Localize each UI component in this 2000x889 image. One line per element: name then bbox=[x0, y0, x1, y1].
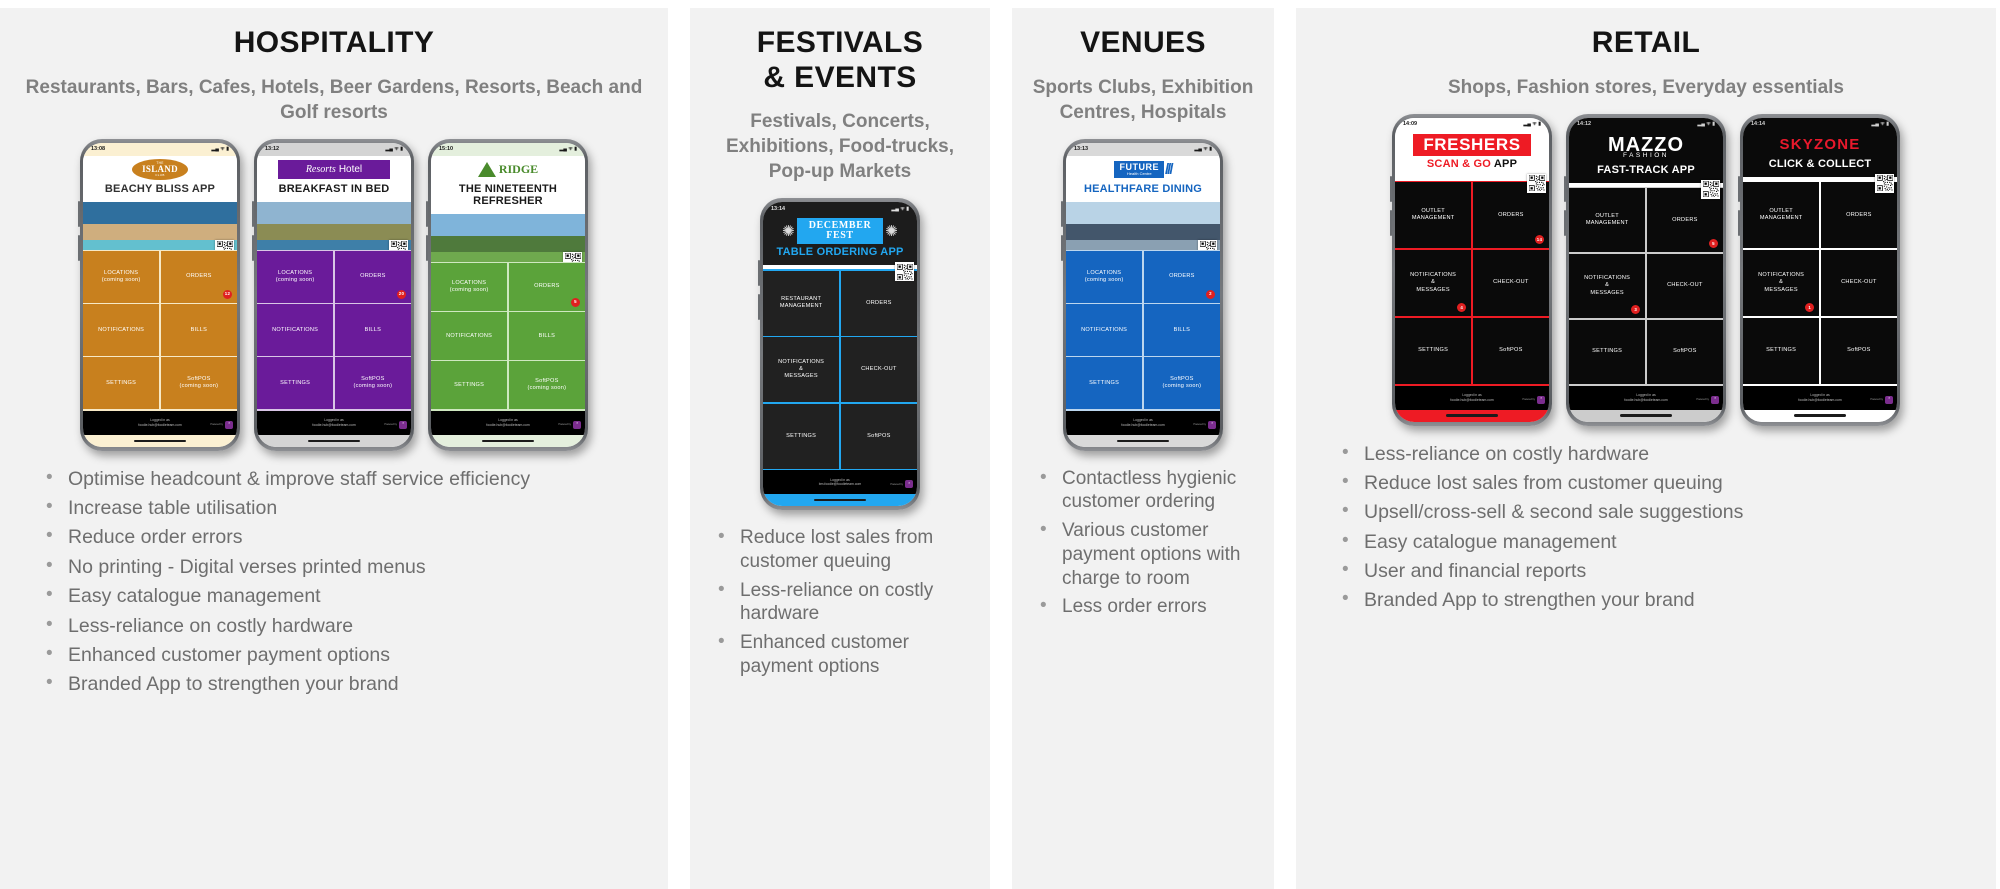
phones-row-hospitality: 13:08▂▄ ᯤ ▮THEISLANDCLUBBEACHY BLISS APP… bbox=[80, 139, 588, 451]
qr-code-icon[interactable] bbox=[1875, 174, 1894, 193]
phone-footer: Logged in asbm.foodie@foodieteam.comPowe… bbox=[763, 470, 917, 494]
phone-screen-freshers: 14:09▂▄ ᯤ ▮FRESHERSSCAN & GO APPOUTLETMA… bbox=[1395, 118, 1549, 422]
hero-land bbox=[1066, 224, 1220, 241]
benefit-item: Less-reliance on costly hardware bbox=[714, 579, 976, 627]
tile-bills[interactable]: BILLS bbox=[161, 304, 237, 356]
status-time: 14:14 bbox=[1751, 121, 1765, 127]
status-bar: 14:12▂▄ ᯤ ▮ bbox=[1569, 118, 1723, 131]
tile-settings[interactable]: SETTINGS bbox=[1066, 357, 1142, 409]
tile-label: SoftPOS bbox=[867, 433, 891, 440]
tile-orders[interactable]: ORDERS2 bbox=[1144, 251, 1220, 303]
phones-row-retail: 14:09▂▄ ᯤ ▮FRESHERSSCAN & GO APPOUTLETMA… bbox=[1392, 114, 1900, 426]
brand-bar: THEISLANDCLUBBEACHY BLISS APP bbox=[83, 156, 237, 202]
column-subtitle-hospitality: Restaurants, Bars, Cafes, Hotels, Beer G… bbox=[21, 75, 647, 125]
tile-label: NOTIFICATIONS&MESSAGES bbox=[778, 359, 824, 381]
column-hospitality: HOSPITALITYRestaurants, Bars, Cafes, Hot… bbox=[0, 8, 668, 889]
phone-footer: Logged in asfoodie.hub@foodieteam.comPow… bbox=[257, 411, 411, 435]
solution-overview-board: HOSPITALITYRestaurants, Bars, Cafes, Hot… bbox=[0, 0, 2000, 889]
hero-sea bbox=[83, 240, 237, 250]
tile-settings[interactable]: SETTINGS bbox=[257, 357, 333, 409]
status-icons: ▂▄ ᯤ ▮ bbox=[560, 146, 577, 152]
tile-grid: RESTAURANTMANAGEMENTORDERSNOTIFICATIONS&… bbox=[763, 269, 917, 470]
hero-image bbox=[83, 202, 237, 250]
home-indicator[interactable] bbox=[1117, 440, 1169, 442]
tile-label: SETTINGS bbox=[786, 433, 816, 440]
tile-label: BILLS bbox=[365, 327, 382, 334]
tile-settings[interactable]: SETTINGS bbox=[1569, 320, 1645, 384]
benefit-item: Branded App to strengthen your brand bbox=[42, 672, 654, 696]
tile-label: CHECK-OUT bbox=[861, 366, 897, 373]
brand-bar: ResortsHotelBREAKFAST IN BED bbox=[257, 156, 411, 202]
home-indicator[interactable] bbox=[482, 440, 534, 442]
hero-sky bbox=[431, 214, 585, 238]
powered-by: Powered byf bbox=[210, 421, 233, 429]
powered-by: Powered byf bbox=[558, 421, 581, 429]
logged-in-text: Logged in asfoodie.hub@foodieteam.com bbox=[1121, 418, 1164, 427]
app-title: CLICK & COLLECT bbox=[1747, 156, 1893, 173]
firework-icon-right: ✺ bbox=[885, 222, 898, 240]
tile-softpos[interactable]: SoftPOS bbox=[1821, 318, 1897, 384]
column-venues: VENUESSports Clubs, Exhibition Centres, … bbox=[1012, 8, 1274, 889]
app-title: FAST-TRACK APP bbox=[1573, 162, 1719, 179]
brand-logo-ridge-golf-club: RIDGE bbox=[435, 159, 581, 181]
powered-by: Powered byf bbox=[1193, 421, 1216, 429]
hero-image bbox=[257, 202, 411, 250]
tile-label: ORDERS bbox=[534, 283, 559, 290]
tile-label: SoftPOS(coming soon) bbox=[1163, 376, 1202, 391]
tile-bills[interactable]: BILLS bbox=[509, 312, 585, 360]
tile-grid: OUTLETMANAGEMENTORDERS14NOTIFICATIONS&ME… bbox=[1395, 181, 1549, 386]
logged-in-text: Logged in asbm.foodie@foodieteam.com bbox=[819, 478, 861, 487]
home-indicator[interactable] bbox=[308, 440, 360, 442]
status-bar: 13:12▂▄ ᯤ ▮ bbox=[257, 143, 411, 156]
brand-logo-mazzo-fashion: MAZZOFASHION bbox=[1573, 134, 1719, 162]
brand-bar: SKYZONECLICK & COLLECT bbox=[1743, 131, 1897, 177]
tile-grid: OUTLETMANAGEMENTORDERSNOTIFICATIONS&MESS… bbox=[1743, 181, 1897, 386]
brand-logo-december-fest: ✺DECEMBERFEST✺ bbox=[767, 218, 913, 244]
tile-restaurant[interactable]: RESTAURANTMANAGEMENT bbox=[763, 271, 839, 336]
tile-bills[interactable]: BILLS bbox=[335, 304, 411, 356]
phone-screen-ridge-golf-club: 15:10▂▄ ᯤ ▮RIDGETHE NINETEENTH REFRESHER… bbox=[431, 143, 585, 447]
qr-code-icon[interactable] bbox=[1701, 180, 1720, 199]
qr-anchor bbox=[1743, 177, 1897, 181]
tile-softpos[interactable]: SoftPOS(coming soon) bbox=[1144, 357, 1220, 409]
status-icons: ▂▄ ᯤ ▮ bbox=[386, 146, 403, 152]
tile-label: ORDERS bbox=[1498, 212, 1523, 219]
benefit-item: Less order errors bbox=[1036, 595, 1260, 619]
home-indicator-bar bbox=[83, 435, 237, 447]
tile-label: ORDERS bbox=[360, 273, 385, 280]
tile-notifications[interactable]: NOTIFICATIONS bbox=[83, 304, 159, 356]
phone-mockup-december-fest: 13:14▂▄ ᯤ ▮✺DECEMBERFEST✺TABLE ORDERING … bbox=[760, 198, 920, 510]
foodie-logo-icon: f bbox=[1537, 396, 1545, 404]
tile-label: ORDERS bbox=[186, 273, 211, 280]
benefit-item: No printing - Digital verses printed men… bbox=[42, 555, 654, 579]
logo-line-3: CLUB bbox=[155, 174, 165, 177]
phones-row-venues: 13:13▂▄ ᯤ ▮FUTUREHealth Centre///HEALTHF… bbox=[1063, 139, 1223, 451]
tile-label: ORDERS bbox=[1169, 273, 1194, 280]
powered-by-label: Powered by bbox=[890, 483, 903, 486]
column-subtitle-retail: Shops, Fashion stores, Everyday essentia… bbox=[1448, 75, 1844, 100]
home-indicator[interactable] bbox=[1620, 414, 1672, 416]
powered-by-label: Powered by bbox=[1193, 423, 1206, 426]
brand-logo-island-club: THEISLANDCLUB bbox=[87, 159, 233, 181]
tile-locations[interactable]: LOCATIONS(coming soon) bbox=[431, 263, 507, 311]
powered-by-label: Powered by bbox=[1696, 398, 1709, 401]
powered-by-label: Powered by bbox=[1522, 398, 1535, 401]
tile-label: SETTINGS bbox=[1766, 347, 1796, 354]
status-time: 13:08 bbox=[91, 146, 105, 152]
foodie-logo-icon: f bbox=[1885, 396, 1893, 404]
qr-code-icon[interactable] bbox=[895, 262, 914, 281]
tile-outlet[interactable]: OUTLETMANAGEMENT bbox=[1395, 182, 1471, 248]
tile-label: SoftPOS bbox=[1499, 347, 1523, 354]
status-time: 13:14 bbox=[771, 206, 785, 212]
tile-check-out[interactable]: CHECK-OUT bbox=[1821, 250, 1897, 316]
benefit-item: Reduce order errors bbox=[42, 525, 654, 549]
tile-badge: 12 bbox=[223, 290, 232, 299]
tile-check-out[interactable]: CHECK-OUT bbox=[1647, 254, 1723, 318]
status-icons: ▂▄ ᯤ ▮ bbox=[1524, 121, 1541, 127]
foodie-logo-icon: f bbox=[905, 480, 913, 488]
benefit-item: Less-reliance on costly hardware bbox=[42, 614, 654, 638]
tile-bills[interactable]: BILLS bbox=[1144, 304, 1220, 356]
foodie-logo-icon: f bbox=[225, 421, 233, 429]
tile-badge: 20 bbox=[397, 290, 406, 299]
status-time: 14:09 bbox=[1403, 121, 1417, 127]
tile-outlet[interactable]: OUTLETMANAGEMENT bbox=[1743, 182, 1819, 248]
powered-by-label: Powered by bbox=[1870, 398, 1883, 401]
benefit-item: Enhanced customer payment options bbox=[42, 643, 654, 667]
powered-by: Powered byf bbox=[1870, 396, 1893, 404]
powered-by: Powered byf bbox=[384, 421, 407, 429]
column-subtitle-venues: Sports Clubs, Exhibition Centres, Hospit… bbox=[1025, 75, 1261, 125]
tile-label: NOTIFICATIONS&MESSAGES bbox=[1584, 275, 1630, 297]
app-title: TABLE ORDERING APP bbox=[767, 244, 913, 261]
powered-by: Powered byf bbox=[1522, 396, 1545, 404]
tile-check-out[interactable]: CHECK-OUT bbox=[841, 337, 917, 402]
tile-softpos[interactable]: SoftPOS bbox=[841, 404, 917, 469]
qr-code-icon[interactable] bbox=[1198, 240, 1217, 250]
tile-label: SETTINGS bbox=[1418, 347, 1448, 354]
status-icons: ▂▄ ᯤ ▮ bbox=[892, 206, 909, 212]
app-title: HEALTHFARE DINING bbox=[1070, 181, 1216, 198]
phone-mockup-skyzone: 14:14▂▄ ᯤ ▮SKYZONECLICK & COLLECTOUTLETM… bbox=[1740, 114, 1900, 426]
tile-label: SETTINGS bbox=[1089, 380, 1119, 387]
column-subtitle-festivals: Festivals, Concerts, Exhibitions, Food-t… bbox=[704, 109, 977, 184]
phone-mockup-mazzo-fashion: 14:12▂▄ ᯤ ▮MAZZOFASHIONFAST-TRACK APPOUT… bbox=[1566, 114, 1726, 426]
tile-label: SoftPOS bbox=[1847, 347, 1871, 354]
tile-label: RESTAURANTMANAGEMENT bbox=[780, 296, 823, 311]
hero-sky bbox=[1066, 202, 1220, 226]
column-title-venues: VENUES bbox=[1080, 26, 1206, 61]
tile-orders[interactable]: ORDERS12 bbox=[161, 251, 237, 303]
benefit-item: Optimise headcount & improve staff servi… bbox=[42, 467, 654, 491]
tile-notifications[interactable]: NOTIFICATIONS&MESSAGES1 bbox=[1743, 250, 1819, 316]
column-title-retail: RETAIL bbox=[1592, 26, 1701, 61]
status-bar: 14:14▂▄ ᯤ ▮ bbox=[1743, 118, 1897, 131]
benefit-item: Less-reliance on costly hardware bbox=[1338, 442, 1982, 466]
tile-orders[interactable]: ORDERS20 bbox=[335, 251, 411, 303]
phone-screen-future-health-centre: 13:13▂▄ ᯤ ▮FUTUREHealth Centre///HEALTHF… bbox=[1066, 143, 1220, 447]
tile-badge: 5 bbox=[1709, 239, 1718, 248]
benefits-list-festivals: Reduce lost sales from customer queuingL… bbox=[698, 526, 982, 684]
benefit-item: Reduce lost sales from customer queuing bbox=[714, 526, 976, 574]
phone-screen-december-fest: 13:14▂▄ ᯤ ▮✺DECEMBERFEST✺TABLE ORDERING … bbox=[763, 202, 917, 506]
tile-label: CHECK-OUT bbox=[1493, 279, 1529, 286]
hero-sky bbox=[257, 202, 411, 226]
status-bar: 13:08▂▄ ᯤ ▮ bbox=[83, 143, 237, 156]
status-icons: ▂▄ ᯤ ▮ bbox=[1872, 121, 1889, 127]
benefits-list-venues: Contactless hygienic customer orderingVa… bbox=[1020, 467, 1266, 625]
hero-sky bbox=[83, 202, 237, 226]
tile-label: NOTIFICATIONS bbox=[1081, 327, 1127, 334]
home-indicator-bar bbox=[431, 435, 585, 447]
brand-bar: RIDGETHE NINETEENTH REFRESHER bbox=[431, 156, 585, 214]
tile-softpos[interactable]: SoftPOS(coming soon) bbox=[161, 357, 237, 409]
brand-logo-resorts-hotel: ResortsHotel bbox=[261, 159, 407, 181]
tile-notifications[interactable]: NOTIFICATIONS bbox=[1066, 304, 1142, 356]
mazzo-sub: FASHION bbox=[1608, 153, 1684, 159]
qr-code-icon[interactable] bbox=[215, 240, 234, 250]
tile-badge: 1 bbox=[1805, 303, 1814, 312]
tile-check-out[interactable]: CHECK-OUT bbox=[1473, 250, 1549, 316]
status-bar: 13:13▂▄ ᯤ ▮ bbox=[1066, 143, 1220, 156]
tile-label: CHECK-OUT bbox=[1667, 282, 1703, 289]
future-health-logo: FUTUREHealth Centre/// bbox=[1114, 161, 1171, 178]
tile-orders[interactable]: ORDERS5 bbox=[509, 263, 585, 311]
tile-badge: 3 bbox=[1631, 305, 1640, 314]
home-indicator-bar bbox=[1743, 410, 1897, 422]
column-retail: RETAILShops, Fashion stores, Everyday es… bbox=[1296, 8, 1996, 889]
tile-label: NOTIFICATIONS&MESSAGES bbox=[1410, 272, 1456, 294]
column-title-festivals: FESTIVALS& EVENTS bbox=[757, 26, 923, 95]
tile-label: NOTIFICATIONS&MESSAGES bbox=[1758, 272, 1804, 294]
tile-label: OUTLETMANAGEMENT bbox=[1586, 213, 1629, 228]
app-title: THE NINETEENTH REFRESHER bbox=[435, 181, 581, 210]
benefit-item: User and financial reports bbox=[1338, 559, 1982, 583]
status-time: 13:12 bbox=[265, 146, 279, 152]
qr-anchor bbox=[763, 265, 917, 269]
tile-label: BILLS bbox=[191, 327, 208, 334]
foodie-logo-icon: f bbox=[399, 421, 407, 429]
logged-in-text: Logged in asfoodie.hub@foodieteam.com bbox=[1798, 393, 1841, 402]
hero-image bbox=[1066, 202, 1220, 250]
tile-grid: OUTLETMANAGEMENTORDERS5NOTIFICATIONS&MES… bbox=[1569, 187, 1723, 386]
phone-mockup-future-health-centre: 13:13▂▄ ᯤ ▮FUTUREHealth Centre///HEALTHF… bbox=[1063, 139, 1223, 451]
tile-settings[interactable]: SETTINGS bbox=[1395, 318, 1471, 384]
home-indicator[interactable] bbox=[134, 440, 186, 442]
phones-row-festivals: 13:14▂▄ ᯤ ▮✺DECEMBERFEST✺TABLE ORDERING … bbox=[760, 198, 920, 510]
qr-code-icon[interactable] bbox=[389, 240, 408, 250]
skyzone-logo: SKYZONE bbox=[1780, 136, 1861, 153]
tile-badge: 4 bbox=[1457, 303, 1466, 312]
tile-label: OUTLETMANAGEMENT bbox=[1760, 208, 1803, 223]
tile-settings[interactable]: SETTINGS bbox=[431, 361, 507, 409]
powered-by: Powered byf bbox=[890, 480, 913, 488]
qr-code-icon[interactable] bbox=[563, 252, 582, 262]
app-title: SCAN & GO APP bbox=[1399, 156, 1545, 173]
status-time: 15:10 bbox=[439, 146, 453, 152]
phone-screen-island-club: 13:08▂▄ ᯤ ▮THEISLANDCLUBBEACHY BLISS APP… bbox=[83, 143, 237, 447]
benefit-item: Contactless hygienic customer ordering bbox=[1036, 467, 1260, 515]
tile-grid: LOCATIONS(coming soon)ORDERS2NOTIFICATIO… bbox=[1066, 250, 1220, 411]
powered-by: Powered byf bbox=[1696, 396, 1719, 404]
firework-icon-left: ✺ bbox=[782, 222, 795, 240]
app-title: BEACHY BLISS APP bbox=[87, 181, 233, 198]
powered-by-label: Powered by bbox=[558, 423, 571, 426]
tile-notifications[interactable]: NOTIFICATIONS&MESSAGES bbox=[763, 337, 839, 402]
ridge-golf-logo: RIDGE bbox=[478, 162, 538, 177]
qr-anchor bbox=[1395, 177, 1549, 181]
tile-softpos[interactable]: SoftPOS bbox=[1473, 318, 1549, 384]
benefits-list-retail: Less-reliance on costly hardwareReduce l… bbox=[1304, 442, 1988, 618]
status-bar: 14:09▂▄ ᯤ ▮ bbox=[1395, 118, 1549, 131]
benefit-item: Easy catalogue management bbox=[42, 584, 654, 608]
tile-notifications[interactable]: NOTIFICATIONS&MESSAGES4 bbox=[1395, 250, 1471, 316]
status-bar: 15:10▂▄ ᯤ ▮ bbox=[431, 143, 585, 156]
phone-footer: Logged in asfoodie.hub@foodieteam.comPow… bbox=[1569, 386, 1723, 410]
tile-badge: 14 bbox=[1535, 235, 1544, 244]
tile-grid: LOCATIONS(coming soon)ORDERS12NOTIFICATI… bbox=[83, 250, 237, 411]
qr-anchor bbox=[1569, 183, 1723, 187]
status-icons: ▂▄ ᯤ ▮ bbox=[1195, 146, 1212, 152]
phone-mockup-freshers: 14:09▂▄ ᯤ ▮FRESHERSSCAN & GO APPOUTLETMA… bbox=[1392, 114, 1552, 426]
foodie-logo-icon: f bbox=[1711, 396, 1719, 404]
tile-softpos[interactable]: SoftPOS(coming soon) bbox=[509, 361, 585, 409]
powered-by-label: Powered by bbox=[210, 423, 223, 426]
tile-label: NOTIFICATIONS bbox=[272, 327, 318, 334]
tile-settings[interactable]: SETTINGS bbox=[763, 404, 839, 469]
brand-logo-skyzone: SKYZONE bbox=[1747, 134, 1893, 156]
logo-text: RIDGE bbox=[499, 162, 538, 177]
tile-grid: LOCATIONS(coming soon)ORDERS20NOTIFICATI… bbox=[257, 250, 411, 411]
december-fest-header: ✺DECEMBERFEST✺ bbox=[782, 218, 898, 244]
phone-mockup-island-club: 13:08▂▄ ᯤ ▮THEISLANDCLUBBEACHY BLISS APP… bbox=[80, 139, 240, 451]
benefit-item: Reduce lost sales from customer queuing bbox=[1338, 471, 1982, 495]
tile-locations[interactable]: LOCATIONS(coming soon) bbox=[83, 251, 159, 303]
qr-code-icon[interactable] bbox=[1527, 174, 1546, 193]
tile-label: SoftPOS(coming soon) bbox=[180, 376, 219, 391]
resorts-hotel-logo: ResortsHotel bbox=[278, 160, 390, 179]
logged-in-text: Logged in asfoodie.hub@foodieteam.com bbox=[312, 418, 355, 427]
tile-badge: 2 bbox=[1206, 290, 1215, 299]
status-bar: 13:14▂▄ ᯤ ▮ bbox=[763, 202, 917, 215]
island-club-logo: THEISLANDCLUB bbox=[132, 159, 188, 180]
logged-in-text: Logged in asfoodie.hub@foodieteam.com bbox=[486, 418, 529, 427]
benefit-item: Various customer payment options with ch… bbox=[1036, 519, 1260, 590]
brand-bar: ✺DECEMBERFEST✺TABLE ORDERING APP bbox=[763, 215, 917, 265]
tile-grid: LOCATIONS(coming soon)ORDERS5NOTIFICATIO… bbox=[431, 262, 585, 411]
benefit-item: Enhanced customer payment options bbox=[714, 631, 976, 679]
tile-settings[interactable]: SETTINGS bbox=[1743, 318, 1819, 384]
home-indicator[interactable] bbox=[1794, 414, 1846, 416]
foodie-logo-icon: f bbox=[1208, 421, 1216, 429]
tile-notifications[interactable]: NOTIFICATIONS bbox=[257, 304, 333, 356]
logged-in-text: Logged in asfoodie.hub@foodieteam.com bbox=[138, 418, 181, 427]
hero-land bbox=[257, 224, 411, 241]
benefit-item: Easy catalogue management bbox=[1338, 530, 1982, 554]
tile-label: ORDERS bbox=[866, 300, 891, 307]
tile-label: BILLS bbox=[1174, 327, 1191, 334]
brand-logo-freshers: FRESHERS bbox=[1399, 134, 1545, 156]
tile-notifications[interactable]: NOTIFICATIONS bbox=[431, 312, 507, 360]
tile-label: LOCATIONS(coming soon) bbox=[1085, 270, 1124, 285]
logo-script: Resorts bbox=[306, 164, 336, 175]
app-title: BREAKFAST IN BED bbox=[261, 181, 407, 198]
tile-label: SETTINGS bbox=[454, 382, 484, 389]
logo-plain: Hotel bbox=[339, 164, 362, 175]
tile-label: CHECK-OUT bbox=[1841, 279, 1877, 286]
tile-label: SETTINGS bbox=[1592, 348, 1622, 355]
tile-label: LOCATIONS(coming soon) bbox=[276, 270, 315, 285]
column-festivals: FESTIVALS& EVENTSFestivals, Concerts, Ex… bbox=[690, 8, 990, 889]
home-indicator[interactable] bbox=[1446, 414, 1498, 416]
brand-bar: MAZZOFASHIONFAST-TRACK APP bbox=[1569, 131, 1723, 183]
hero-sea bbox=[1066, 240, 1220, 250]
tile-notifications[interactable]: NOTIFICATIONS&MESSAGES3 bbox=[1569, 254, 1645, 318]
brand-bar: FRESHERSSCAN & GO APP bbox=[1395, 131, 1549, 177]
december-fest-logo: DECEMBERFEST bbox=[797, 218, 884, 244]
tile-outlet[interactable]: OUTLETMANAGEMENT bbox=[1569, 188, 1645, 252]
home-indicator-bar bbox=[763, 494, 917, 506]
tile-badge: 5 bbox=[571, 298, 580, 307]
home-indicator-bar bbox=[257, 435, 411, 447]
tile-softpos[interactable]: SoftPOS(coming soon) bbox=[335, 357, 411, 409]
logged-in-text: Logged in asfoodie.hub@foodieteam.com bbox=[1450, 393, 1493, 402]
phone-screen-mazzo-fashion: 14:12▂▄ ᯤ ▮MAZZOFASHIONFAST-TRACK APPOUT… bbox=[1569, 118, 1723, 422]
home-indicator-bar bbox=[1066, 435, 1220, 447]
tile-softpos[interactable]: SoftPOS bbox=[1647, 320, 1723, 384]
tile-label: LOCATIONS(coming soon) bbox=[102, 270, 141, 285]
tile-label: SoftPOS bbox=[1673, 348, 1697, 355]
tile-label: SETTINGS bbox=[106, 380, 136, 387]
tile-label: SETTINGS bbox=[280, 380, 310, 387]
foodie-logo-icon: f bbox=[573, 421, 581, 429]
logo-slash-icon: /// bbox=[1165, 161, 1172, 178]
phone-mockup-ridge-golf-club: 15:10▂▄ ᯤ ▮RIDGETHE NINETEENTH REFRESHER… bbox=[428, 139, 588, 451]
mountain-icon bbox=[478, 162, 496, 177]
hero-land bbox=[83, 224, 237, 241]
status-time: 13:13 bbox=[1074, 146, 1088, 152]
tile-locations[interactable]: LOCATIONS(coming soon) bbox=[257, 251, 333, 303]
brand-bar: FUTUREHealth Centre///HEALTHFARE DINING bbox=[1066, 156, 1220, 202]
mazzo-logo: MAZZOFASHION bbox=[1608, 136, 1684, 159]
benefit-item: Increase table utilisation bbox=[42, 496, 654, 520]
logged-in-text: Logged in asfoodie.hub@foodieteam.com bbox=[1624, 393, 1667, 402]
phone-screen-skyzone: 14:14▂▄ ᯤ ▮SKYZONECLICK & COLLECTOUTLETM… bbox=[1743, 118, 1897, 422]
column-title-hospitality: HOSPITALITY bbox=[234, 26, 435, 61]
tile-label: ORDERS bbox=[1846, 212, 1871, 219]
logo-block: FUTUREHealth Centre bbox=[1114, 161, 1164, 178]
phone-footer: Logged in asfoodie.hub@foodieteam.comPow… bbox=[83, 411, 237, 435]
tile-locations[interactable]: LOCATIONS(coming soon) bbox=[1066, 251, 1142, 303]
home-indicator-bar bbox=[1569, 410, 1723, 422]
hero-sea bbox=[431, 252, 585, 262]
benefit-item: Upsell/cross-sell & second sale suggesti… bbox=[1338, 500, 1982, 524]
tile-label: OUTLETMANAGEMENT bbox=[1412, 208, 1455, 223]
hero-sea bbox=[257, 240, 411, 250]
home-indicator[interactable] bbox=[814, 499, 866, 501]
logo-line-2: Health Centre bbox=[1119, 172, 1159, 176]
hero-image bbox=[431, 214, 585, 262]
tile-label: LOCATIONS(coming soon) bbox=[450, 280, 489, 295]
status-icons: ▂▄ ᯤ ▮ bbox=[1698, 121, 1715, 127]
tile-settings[interactable]: SETTINGS bbox=[83, 357, 159, 409]
tile-label: ORDERS bbox=[1672, 217, 1697, 224]
status-icons: ▂▄ ᯤ ▮ bbox=[212, 146, 229, 152]
hero-land bbox=[431, 236, 585, 253]
